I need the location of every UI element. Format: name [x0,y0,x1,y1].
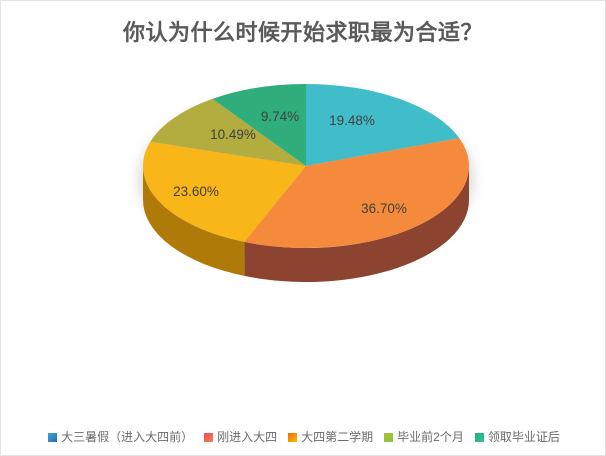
legend-color-swatch [384,433,393,442]
pie-slice-label: 9.74% [261,109,299,124]
legend-label: 领取毕业证后 [488,431,560,443]
legend-color-swatch [48,433,57,442]
chart-legend: 大三暑假（进入大四前）刚进入大四大四第二学期毕业前2个月领取毕业证后 [1,431,606,443]
chart-title: 你认为什么时候开始求职最为合适？ [1,15,605,47]
legend-label: 大三暑假（进入大四前） [61,431,193,443]
pie-slice-label: 10.49% [210,127,256,142]
legend-color-swatch [204,433,213,442]
legend-label: 大四第二学期 [301,431,373,443]
pie-chart-figure: 你认为什么时候开始求职最为合适？ 19.48%36.70%23.60%10.49… [0,0,606,456]
pie-plot-area: 19.48%36.70%23.60%10.49%9.74% [1,61,606,351]
pie-slice-label: 19.48% [329,113,375,128]
pie-slice-label: 36.70% [361,201,407,216]
legend-item[interactable]: 领取毕业证后 [475,431,560,443]
legend-color-swatch [288,433,297,442]
legend-label: 刚进入大四 [217,431,277,443]
legend-color-swatch [475,433,484,442]
pie-slices [143,84,469,248]
pie-slice-label: 23.60% [173,184,219,199]
legend-item[interactable]: 大三暑假（进入大四前） [48,431,193,443]
legend-item[interactable]: 毕业前2个月 [384,431,464,443]
legend-label: 毕业前2个月 [397,431,464,443]
legend-item[interactable]: 大四第二学期 [288,431,373,443]
pie-svg: 19.48%36.70%23.60%10.49%9.74% [1,61,606,351]
legend-item[interactable]: 刚进入大四 [204,431,277,443]
